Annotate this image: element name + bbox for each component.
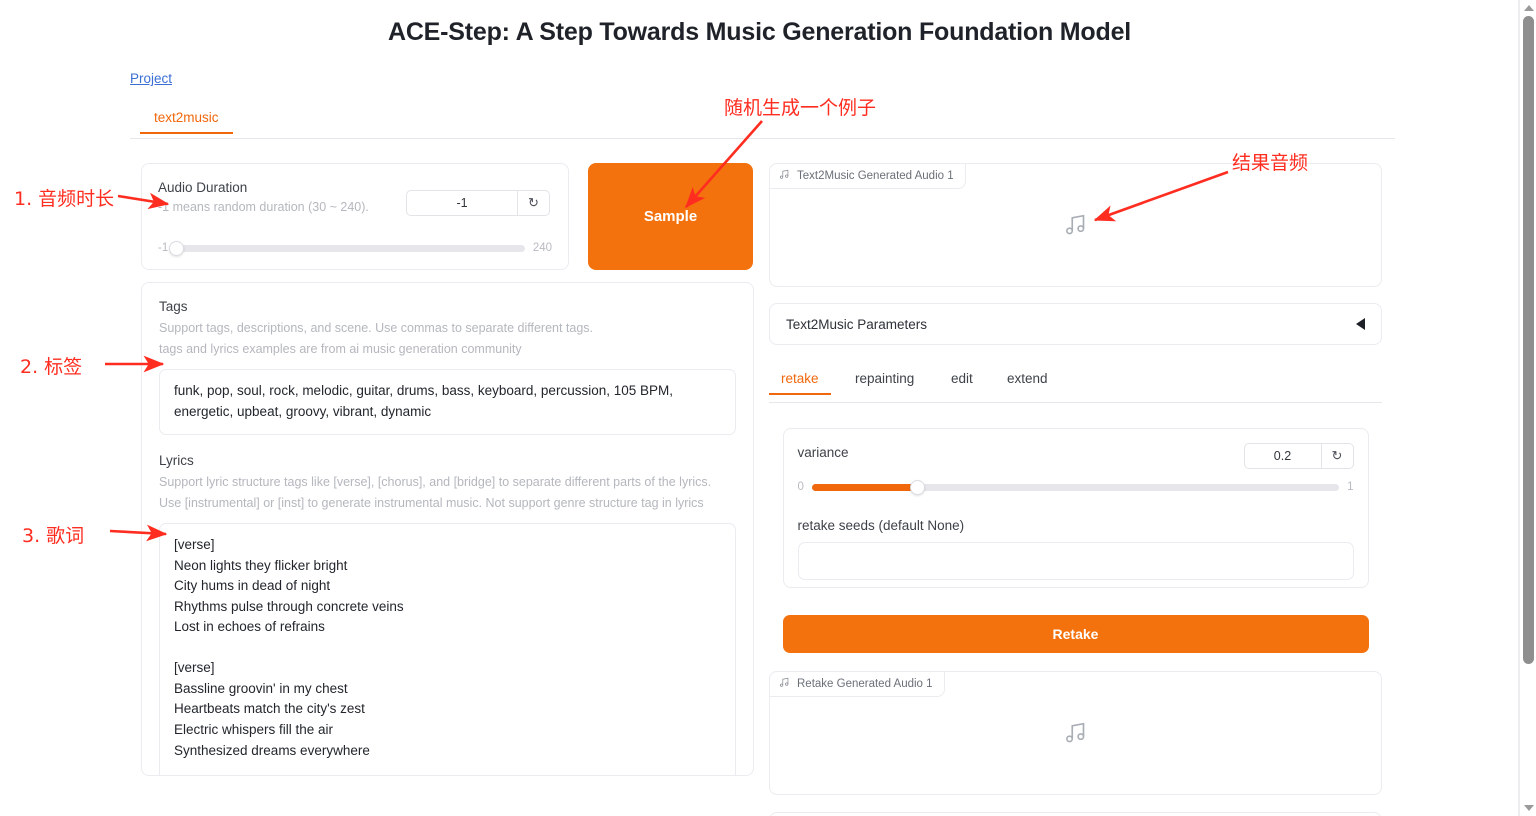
text2music-audio-placeholder [770, 164, 1381, 286]
lyrics-info-line1: Support lyric structure tags like [verse… [159, 472, 736, 493]
retake-generated-audio[interactable]: Retake Generated Audio 1 [769, 671, 1382, 795]
audio-duration-value[interactable]: -1 [407, 191, 517, 215]
annotation-tags: 2. 标签 [20, 352, 82, 379]
scroll-up-arrow-icon[interactable] [1524, 5, 1534, 11]
triangle-left-icon[interactable] [1356, 318, 1365, 330]
lyrics-input[interactable]: [verse] Neon lights they flicker bright … [159, 523, 736, 776]
lyrics-label: Lyrics [159, 453, 736, 468]
tags-label: Tags [159, 299, 736, 314]
tags-input[interactable]: funk, pop, soul, rock, melodic, guitar, … [159, 369, 736, 435]
variance-slider-knob[interactable] [910, 480, 925, 495]
browser-page: ACE-Step: A Step Towards Music Generatio… [0, 0, 1536, 816]
variance-slider-min: 0 [798, 481, 804, 493]
retake-parameters-card: variance 0.2 ↻ 0 1 retake seeds (default… [783, 428, 1369, 588]
subtab-extend[interactable]: extend [1007, 371, 1048, 395]
retake-seeds-input[interactable] [798, 542, 1354, 580]
retake-parameters-accordion[interactable]: Retake Parameters [769, 812, 1382, 816]
tags-lyrics-card: Tags Support tags, descriptions, and sce… [141, 282, 754, 776]
tags-info-line1: Support tags, descriptions, and scene. U… [159, 318, 736, 339]
variance-number-field[interactable]: 0.2 ↻ [1244, 443, 1354, 469]
retake-button[interactable]: Retake [783, 615, 1369, 653]
page-frame: ACE-Step: A Step Towards Music Generatio… [0, 0, 1519, 816]
annotation-sample: 随机生成一个例子 [724, 93, 876, 120]
variance-slider[interactable] [812, 484, 1339, 491]
audio-duration-slider-row: -1 240 [158, 238, 552, 258]
scroll-down-arrow-icon[interactable] [1524, 805, 1534, 811]
subtab-retake[interactable]: retake [781, 371, 819, 395]
right-column: Text2Music Generated Audio 1 Text2Music … [769, 163, 1382, 816]
project-link[interactable]: Project [130, 71, 172, 86]
variance-value[interactable]: 0.2 [1245, 444, 1321, 468]
scrollbar-thumb[interactable] [1523, 16, 1534, 664]
vertical-scrollbar[interactable] [1519, 0, 1536, 816]
text2music-parameters-title: Text2Music Parameters [786, 317, 1356, 332]
parameter-subtabs: retake repainting edit extend [769, 371, 1382, 403]
reset-icon[interactable]: ↻ [517, 191, 549, 215]
audio-duration-card: Audio Duration -1 means random duration … [141, 163, 569, 270]
annotation-duration: 1. 音频时长 [14, 184, 114, 211]
annotation-lyrics: 3. 歌词 [22, 521, 84, 548]
variance-slider-max: 1 [1347, 481, 1353, 493]
audio-duration-slider-knob[interactable] [169, 241, 184, 256]
tab-text2music[interactable]: text2music [140, 108, 233, 134]
variance-slider-fill [812, 484, 917, 491]
reset-icon[interactable]: ↻ [1321, 444, 1353, 468]
tags-info-line2: tags and lyrics examples are from ai mus… [159, 339, 736, 360]
lyrics-info-line2: Use [instrumental] or [inst] to generate… [159, 493, 736, 514]
audio-duration-number-field[interactable]: -1 ↻ [406, 190, 550, 216]
text2music-parameters-accordion[interactable]: Text2Music Parameters [769, 303, 1382, 345]
variance-slider-row: 0 1 [798, 477, 1354, 497]
sample-button[interactable]: Sample [588, 163, 753, 270]
music-note-icon [1064, 721, 1088, 745]
music-note-icon [1064, 213, 1088, 237]
text2music-generated-audio[interactable]: Text2Music Generated Audio 1 [769, 163, 1382, 287]
page-title: ACE-Step: A Step Towards Music Generatio… [0, 18, 1519, 47]
subtab-edit[interactable]: edit [951, 371, 973, 395]
audio-duration-slider[interactable] [176, 245, 525, 252]
audio-duration-slider-min: -1 [158, 242, 168, 254]
audio-duration-slider-max: 240 [533, 242, 552, 254]
subtab-repainting[interactable]: repainting [855, 371, 914, 395]
annotation-result-audio: 结果音频 [1232, 148, 1308, 175]
retake-seeds-label: retake seeds (default None) [798, 518, 1354, 533]
retake-audio-placeholder [770, 672, 1381, 794]
